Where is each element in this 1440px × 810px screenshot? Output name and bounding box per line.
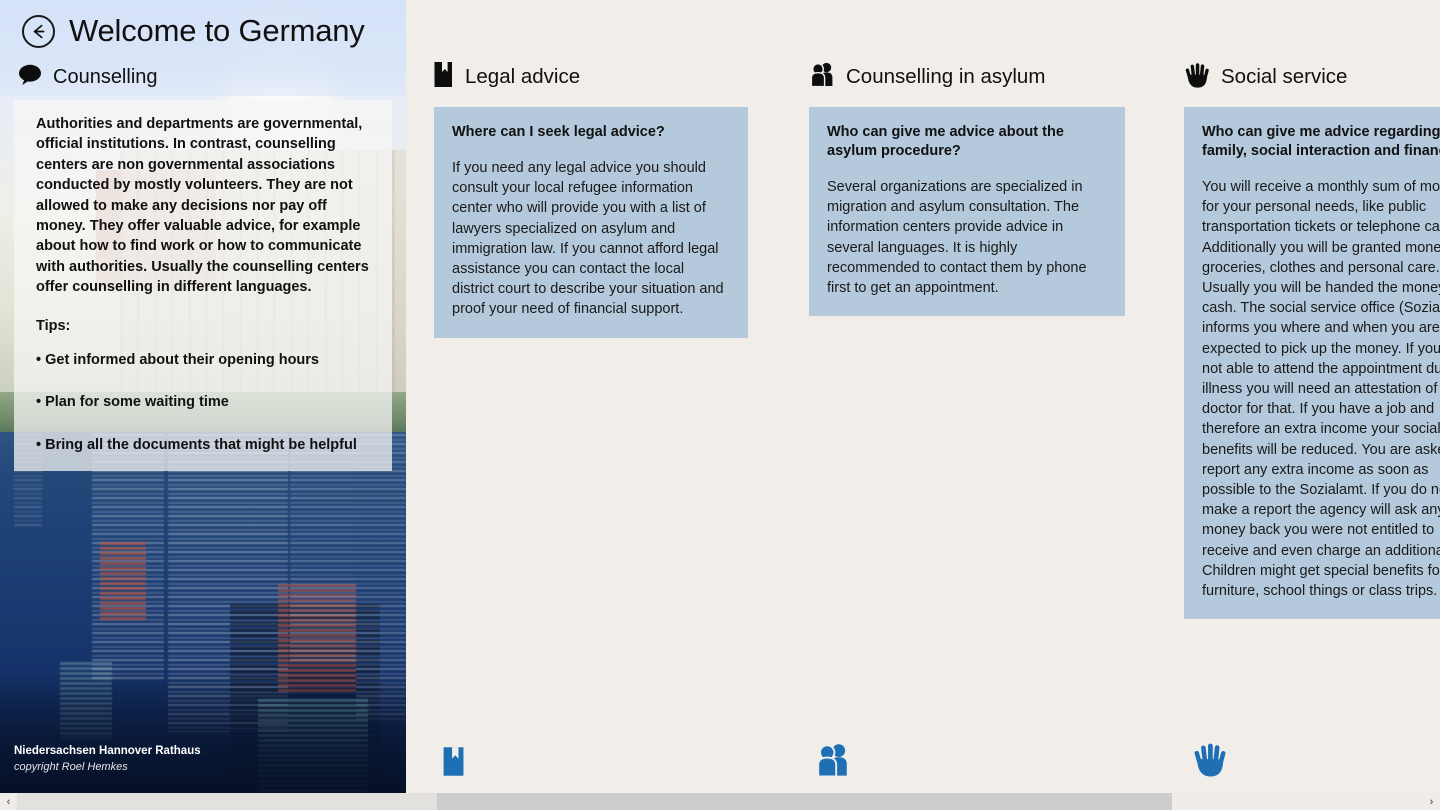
column-header-social-service[interactable]: Social service: [1184, 60, 1440, 94]
hero-tips-label: Tips:: [36, 316, 370, 336]
column-label: Counselling in asylum: [846, 65, 1045, 89]
raised-hand-icon: [1192, 764, 1230, 781]
photo-credit-copyright: copyright Roel Hemkes: [14, 760, 354, 776]
reflection-red: [100, 540, 146, 620]
card-answer: Several organizations are specialized in…: [827, 177, 1107, 298]
column-label: Legal advice: [465, 65, 580, 89]
hero-body-card: Authorities and departments are governme…: [14, 100, 392, 471]
column-legal-advice: Legal advice Where can I seek legal advi…: [434, 60, 748, 338]
photo-water-reflection: [0, 432, 406, 793]
horizontal-scrollbar[interactable]: ‹ ›: [0, 793, 1440, 810]
hero-header: Welcome to Germany Counselling: [0, 0, 406, 96]
card-question: Who can give me advice about the asylum …: [827, 123, 1107, 161]
scrollbar-track[interactable]: [17, 793, 1423, 810]
column-social-service: Social service Who can give me advice re…: [1184, 60, 1440, 619]
hero-tips-list: Get informed about their opening hours P…: [36, 350, 370, 455]
hero-tip-item: Get informed about their opening hours: [36, 350, 370, 370]
card-answer: If you need any legal advice you should …: [452, 158, 730, 320]
card-legal-advice: Where can I seek legal advice? If you ne…: [434, 107, 748, 338]
card-answer: You will receive a monthly sum of money …: [1202, 177, 1440, 601]
hero-body-text: Authorities and departments are governme…: [36, 114, 370, 298]
raised-hand-icon: [1184, 62, 1212, 93]
scrollbar-thumb[interactable]: [17, 793, 1172, 810]
two-people-icon: [815, 764, 853, 781]
hero-panel: Welcome to Germany Counselling Authoriti…: [0, 0, 406, 793]
card-question: Where can I seek legal advice?: [452, 123, 730, 142]
bottom-nav-counselling-in-asylum[interactable]: [815, 743, 853, 782]
column-header-legal-advice[interactable]: Legal advice: [434, 60, 748, 94]
hero-tip-item: Bring all the documents that might be he…: [36, 435, 370, 455]
scroll-left-arrow-icon[interactable]: ‹: [0, 793, 17, 810]
back-arrow-icon: [29, 22, 48, 41]
card-counselling-in-asylum: Who can give me advice about the asylum …: [809, 107, 1125, 316]
two-people-icon: [809, 62, 837, 92]
hero-section-label: Counselling: [53, 66, 158, 89]
photo-credit-title: Niedersachsen Hannover Rathaus: [14, 743, 354, 760]
photo-credit: Niedersachsen Hannover Rathaus copyright…: [14, 743, 354, 776]
title-row: Welcome to Germany: [22, 13, 365, 49]
scrollbar-thumb-highlight: [17, 793, 437, 810]
card-question: Who can give me advice regarding family,…: [1202, 123, 1440, 161]
book-icon: [443, 764, 468, 781]
speech-bubble-icon: [18, 64, 42, 91]
book-icon: [434, 61, 456, 93]
page-title: Welcome to Germany: [69, 13, 365, 49]
column-header-counselling-in-asylum[interactable]: Counselling in asylum: [809, 60, 1125, 94]
column-label: Social service: [1221, 65, 1347, 89]
scroll-right-arrow-icon[interactable]: ›: [1423, 793, 1440, 810]
hero-section-header: Counselling: [18, 64, 158, 91]
column-counselling-in-asylum: Counselling in asylum Who can give me ad…: [809, 60, 1125, 316]
back-button[interactable]: [22, 15, 55, 48]
hero-tip-item: Plan for some waiting time: [36, 392, 370, 412]
bottom-nav-legal-advice[interactable]: [443, 746, 468, 782]
bottom-nav-social-service[interactable]: [1192, 742, 1230, 782]
app-root: Welcome to Germany Counselling Authoriti…: [0, 0, 1440, 810]
card-social-service: Who can give me advice regarding family,…: [1184, 107, 1440, 619]
